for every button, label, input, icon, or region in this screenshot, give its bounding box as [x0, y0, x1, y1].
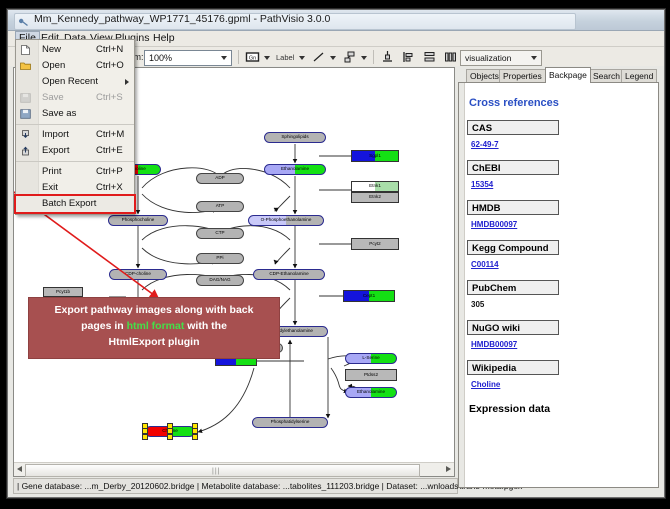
pathway-node-phosphocholine[interactable]: Phosphocholine [108, 215, 168, 226]
selection-handle[interactable] [167, 434, 173, 440]
file-menu-item-print[interactable]: PrintCtrl+P [16, 164, 134, 180]
pathway-gene-label: Pcyt2 [369, 242, 381, 247]
menu-help[interactable]: Help [150, 32, 178, 45]
file-menu-item-label: Batch Export [42, 196, 96, 212]
pathway-gene-pcyt2[interactable]: Pcyt2 [351, 238, 399, 250]
pathway-node-label: PPi [216, 256, 223, 261]
callout-highlight: html format [127, 320, 185, 332]
pathway-node-label: ATP [216, 204, 225, 209]
pathway-node-label: O-Phosphoethanolamine [261, 218, 312, 223]
line-icon[interactable] [311, 50, 326, 64]
file-menu-item-label: Open [42, 58, 65, 74]
tab-properties[interactable]: Properties [499, 69, 546, 83]
file-menu-separator [16, 124, 134, 125]
panel-grip[interactable] [459, 83, 465, 487]
pathway-node-cdpethanolamine[interactable]: CDP-Ethanolamine [253, 269, 325, 280]
xref-value-kegg-compound[interactable]: C00114 [467, 260, 652, 269]
tab-legend[interactable]: Legend [621, 69, 657, 83]
pathway-gene-pcyt1b[interactable]: Pcyt1b [43, 287, 83, 297]
xref-label-chebi: ChEBI [467, 160, 559, 175]
xref-value-chebi[interactable]: 15354 [467, 180, 652, 189]
file-menu-item-accelerator: Ctrl+N [96, 42, 123, 58]
file-menu-item-accelerator: Ctrl+M [96, 127, 124, 143]
callout-line-2a: pages in [81, 320, 127, 332]
pathway-node-label: DAG/NAG [209, 278, 230, 283]
save-icon [20, 93, 31, 103]
pathway-node-atp[interactable]: ATP [196, 201, 244, 212]
scrollbar-thumb[interactable] [25, 464, 420, 477]
pathway-gene-ptdss2[interactable]: Ptdss2 [345, 369, 397, 381]
open-folder-icon [20, 61, 31, 71]
file-menu-item-exit[interactable]: ExitCtrl+X [16, 180, 134, 196]
pathway-node-label: CDP-Ethanolamine [269, 272, 308, 277]
pathway-edge [274, 248, 290, 264]
callout-line-2b: with the [184, 320, 227, 332]
pathway-gene-sgpl1[interactable]: Sgpl1 [351, 150, 399, 162]
pathway-node-ophosphoethanolamine[interactable]: O-Phosphoethanolamine [248, 215, 324, 226]
xref-label-pubchem: PubChem [467, 280, 559, 295]
file-menu-item-batch-export[interactable]: Batch Export [16, 196, 134, 212]
scrollbar-grip-icon: ||| [212, 468, 220, 475]
pathway-node-adp[interactable]: ADP [196, 173, 244, 184]
canvas-horizontal-scrollbar[interactable]: ||| [14, 462, 454, 476]
line-caret-icon[interactable] [330, 56, 336, 60]
xref-label-wikipedia: Wikipedia [467, 360, 559, 375]
file-menu-item-accelerator: Ctrl+P [96, 164, 123, 180]
pathway-gene-label: Etnk1 [369, 184, 381, 189]
align-top-icon[interactable] [380, 50, 395, 64]
pathway-node-label: CTP [215, 231, 224, 236]
pathway-node-sphingolipids[interactable]: Sphingolipids [264, 132, 326, 143]
pathway-node-label: Phosphocholine [122, 218, 155, 223]
pathway-edge [274, 196, 290, 211]
shape-caret-icon[interactable] [361, 56, 367, 60]
visualization-value: visualization [465, 53, 511, 63]
callout-line-1: Export pathway images along with back [29, 302, 279, 318]
pathway-gene-cept1[interactable]: Cept1 [343, 290, 395, 302]
zoom-value: 100% [149, 53, 172, 63]
right-panel: Objects Properties Backpage Search Legen… [458, 67, 658, 487]
chevron-down-icon [531, 56, 537, 60]
file-menu-item-export[interactable]: ExportCtrl+E [16, 143, 134, 159]
label-caret-icon[interactable] [299, 56, 305, 60]
shape-icon[interactable] [342, 50, 357, 64]
tab-objects[interactable]: Objects [466, 69, 503, 83]
file-menu-dropdown[interactable]: NewCtrl+NOpenCtrl+OOpen RecentSaveCtrl+S… [15, 39, 135, 215]
file-menu-item-accelerator: Ctrl+S [96, 90, 123, 106]
datanode-icon[interactable]: Gn [245, 50, 260, 64]
align-left-icon[interactable] [401, 50, 416, 64]
scroll-right-icon[interactable] [446, 466, 451, 472]
file-menu-item-save: SaveCtrl+S [16, 90, 134, 106]
zoom-select[interactable]: 100% [144, 50, 232, 66]
pathway-node-ctp[interactable]: CTP [196, 228, 244, 239]
cross-references-heading: Cross references [469, 97, 652, 109]
file-menu-item-label: Save [42, 90, 64, 106]
xref-value-cas[interactable]: 62-49-7 [467, 140, 652, 149]
file-menu-item-label: Save as [42, 106, 76, 122]
pathway-node-ppi[interactable]: PPi [196, 253, 244, 264]
file-menu-item-accelerator: Ctrl+O [96, 58, 124, 74]
pathway-node-label: Phosphatidylserine [271, 420, 310, 425]
pathway-gene-label: Pcyt1b [56, 290, 70, 295]
pathway-node-label: CDP-choline [125, 272, 151, 277]
file-menu-item-open-recent[interactable]: Open Recent [16, 74, 134, 90]
callout-line-3: HtmlExport plugin [29, 334, 279, 350]
xref-value-pubchem: 305 [467, 300, 652, 309]
label-tool-label[interactable]: Label [276, 53, 294, 62]
pathway-gene-etnk2[interactable]: Etnk2 [351, 192, 399, 203]
pathway-gene-label: Ptdss2 [364, 373, 378, 378]
pathway-node-ethanolamine[interactable]: Ethanolamine [264, 164, 326, 175]
file-menu-item-open[interactable]: OpenCtrl+O [16, 58, 134, 74]
scroll-left-icon[interactable] [17, 466, 22, 472]
pathway-node-ethanolamine2[interactable]: Ethanolamine [345, 387, 397, 398]
visualization-select[interactable]: visualization [460, 50, 542, 66]
chevron-down-icon [221, 56, 227, 60]
window-title: Mm_Kennedy_pathway_WP1771_45176.gpml - P… [34, 13, 330, 25]
tab-search[interactable]: Search [589, 69, 624, 83]
export-icon [20, 146, 31, 156]
pathway-node-dagnag[interactable]: DAG/NAG [196, 275, 244, 286]
file-menu-item-label: Open Recent [42, 74, 98, 90]
pathway-node-cdpcholine[interactable]: CDP-choline [109, 269, 167, 280]
pathway-node-label: Sphingolipids [281, 135, 308, 140]
selection-handle[interactable] [192, 434, 198, 440]
datanode-caret-icon[interactable] [264, 56, 270, 60]
pathway-edge [198, 368, 254, 432]
pathway-gene-label: Etnk2 [369, 195, 381, 200]
pathvisio-icon [18, 15, 29, 26]
file-menu-item-label: Export [42, 143, 69, 159]
cross-reference-list: CAS62-49-7ChEBI15354HMDBHMDB00097Kegg Co… [467, 120, 652, 389]
pathway-node-phosphatidylserine[interactable]: Phosphatidylserine [252, 417, 328, 428]
file-menu-item-import[interactable]: ImportCtrl+M [16, 127, 134, 143]
screenshot-root: Mm_Kennedy_pathway_WP1771_45176.gpml - P… [0, 0, 670, 509]
file-menu-item-label: New [42, 42, 61, 58]
distribute-icon[interactable] [443, 50, 458, 64]
pathway-node-label: Ethanolamine [281, 167, 309, 172]
svg-text:Gn: Gn [249, 56, 256, 62]
xref-value-nugo-wiki[interactable]: HMDB00097 [467, 340, 652, 349]
application-window: Mm_Kennedy_pathway_WP1771_45176.gpml - P… [7, 9, 665, 498]
save-as-icon [20, 109, 31, 119]
pathway-gene-etnk1[interactable]: Etnk1 [351, 181, 399, 192]
tab-backpage[interactable]: Backpage [545, 67, 591, 83]
file-menu-separator [16, 161, 134, 162]
xref-label-kegg-compound: Kegg Compound [467, 240, 559, 255]
pathway-gene-label: Cept1 [363, 294, 375, 299]
xref-label-cas: CAS [467, 120, 559, 135]
file-menu-item-label: Exit [42, 180, 58, 196]
backpage-panel[interactable]: Cross references CAS62-49-7ChEBI15354HMD… [458, 82, 659, 488]
pathway-node-label: ADP [215, 176, 224, 181]
import-icon [20, 130, 31, 140]
xref-value-wikipedia[interactable]: Choline [467, 380, 652, 389]
xref-label-nugo-wiki: NuGO wiki [467, 320, 559, 335]
pathway-node-lserine[interactable]: L-Serine [345, 353, 397, 364]
expression-data-heading: Expression data [467, 403, 652, 415]
submenu-arrow-icon [125, 79, 129, 85]
file-menu-item-accelerator: Ctrl+E [96, 143, 123, 159]
file-menu-item-accelerator: Ctrl+X [96, 180, 123, 196]
title-bar: Mm_Kennedy_pathway_WP1771_45176.gpml - P… [8, 10, 664, 31]
file-menu-item-new[interactable]: NewCtrl+N [16, 42, 134, 58]
file-menu-item-label: Import [42, 127, 69, 143]
status-bar: | Gene database: ...m_Derby_20120602.bri… [13, 478, 458, 494]
selection-handle[interactable] [142, 434, 148, 440]
callout-box: Export pathway images along with back pa… [28, 297, 280, 359]
right-panel-tabs[interactable]: Objects Properties Backpage Search Legen… [458, 67, 658, 82]
pathway-node-label: L-Serine [362, 356, 379, 361]
stack-icon[interactable] [422, 50, 437, 64]
cross-references-content: Cross references CAS62-49-7ChEBI15354HMD… [467, 83, 652, 415]
new-file-icon [20, 45, 31, 55]
file-menu-item-save-as[interactable]: Save as [16, 106, 134, 122]
pathway-gene-label: Sgpl1 [369, 154, 381, 159]
xref-label-hmdb: HMDB [467, 200, 559, 215]
file-menu-item-label: Print [42, 164, 62, 180]
pathway-node-label: Ethanolamine [357, 390, 385, 395]
xref-value-hmdb[interactable]: HMDB00097 [467, 220, 652, 229]
